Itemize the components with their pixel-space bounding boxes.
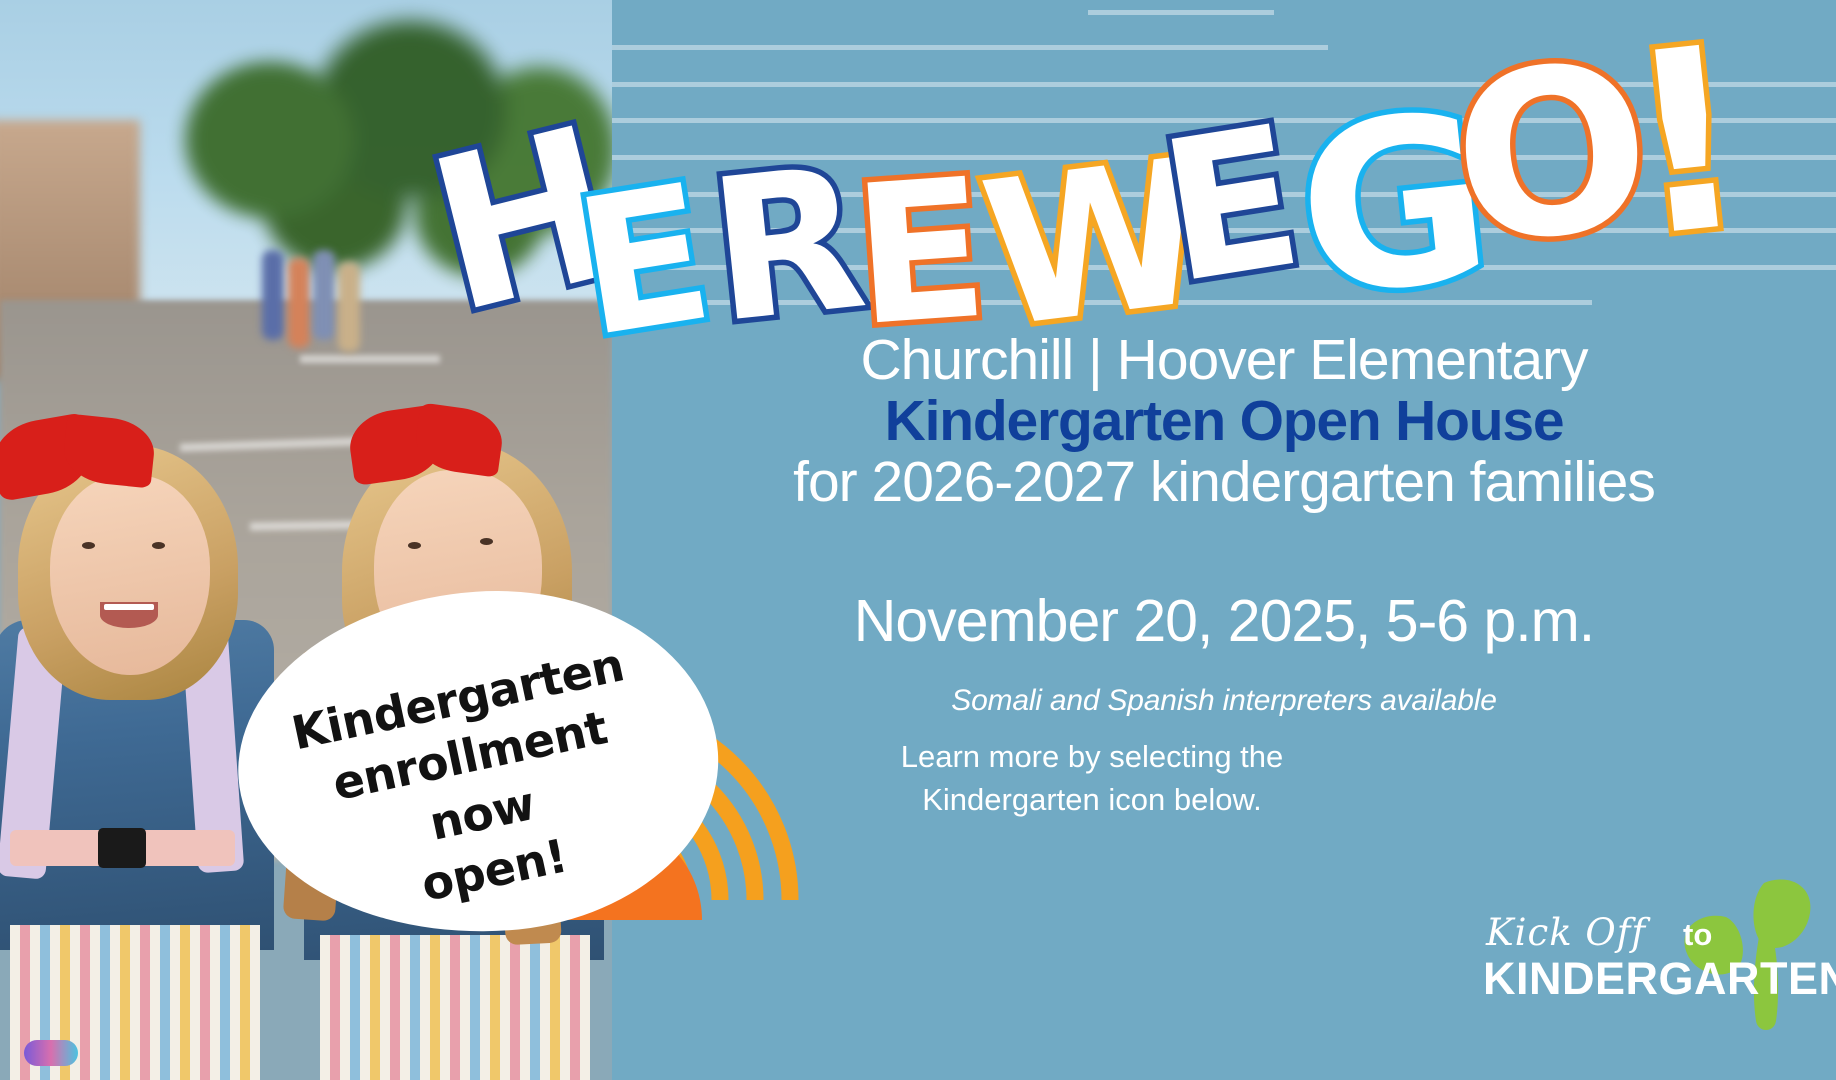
event-copy-block: Churchill | Hoover Elementary Kindergart… (612, 330, 1836, 718)
school-name: Churchill | Hoover Elementary (612, 330, 1836, 392)
logo-script-text: Kick Off (1486, 911, 1646, 954)
student-right-skirt (320, 935, 590, 1080)
event-audience: for 2026-2027 kindergarten families (612, 451, 1836, 515)
headline-letter-e2: E (848, 154, 990, 355)
logo-to-text: to (1683, 917, 1712, 953)
kick-off-to-kindergarten-logo: Kick Off to KINDERGARTEN (1478, 905, 1818, 1045)
headline-letter-r: R (702, 141, 871, 351)
learn-more-line: Learn more by selecting the (782, 736, 1402, 779)
learn-more-line: Kindergarten icon below. (782, 779, 1402, 822)
student-left-buckle (98, 828, 146, 868)
student-left-face (50, 475, 210, 675)
student-left-eye (82, 542, 95, 549)
headline-here-we-go: H E R E W E G O ! (0, 0, 1836, 340)
event-title: Kindergarten Open House (612, 390, 1836, 454)
logo-wordmark: KINDERGARTEN (1483, 953, 1836, 1005)
student-left-teeth (104, 604, 154, 610)
student-left-bracelet (24, 1040, 78, 1066)
event-date-time: November 20, 2025, 5-6 p.m. (612, 589, 1836, 654)
poster-canvas: H E R E W E G O ! Kindergarten enrollmen… (0, 0, 1836, 1080)
interpreter-note: Somali and Spanish interpreters availabl… (612, 684, 1836, 718)
student-left-eye (152, 542, 165, 549)
learn-more-note: Learn more by selecting the Kindergarten… (782, 736, 1402, 822)
